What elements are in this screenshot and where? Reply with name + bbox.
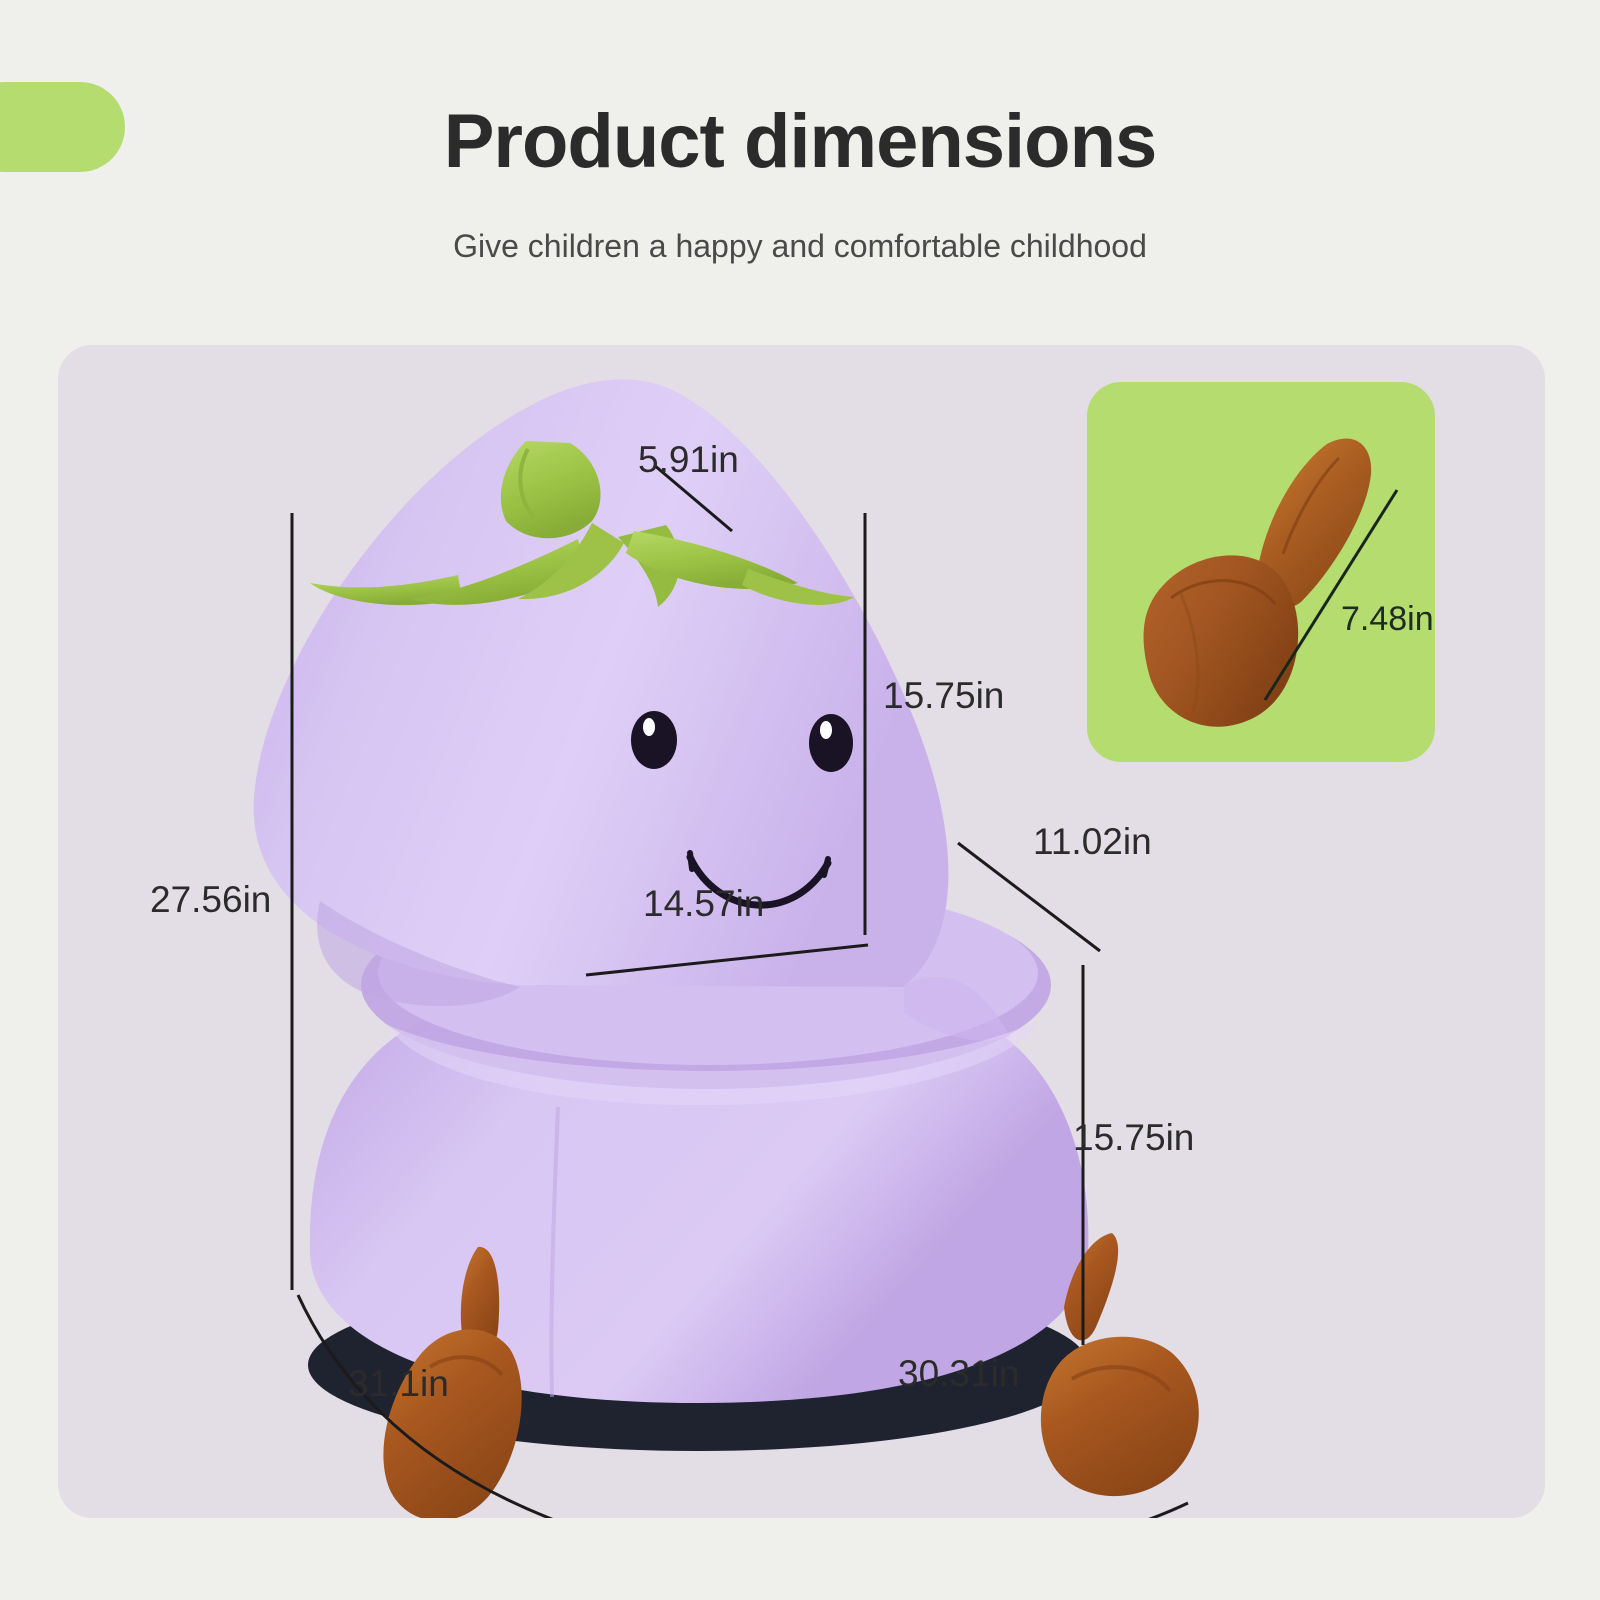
dimension-label-base-depth: 31.1in <box>348 1363 449 1405</box>
dimension-label-total-height: 27.56in <box>150 879 271 921</box>
inset-measurement-label: 7.48in <box>1341 600 1434 639</box>
product-illustration-stage: 5.91in 15.75in 14.57in 11.02in 27.56in 1… <box>58 345 1545 1518</box>
backrest <box>254 379 949 987</box>
dimension-label-seat-height: 15.75in <box>1073 1117 1194 1159</box>
product-dimensions-panel: 5.91in 15.75in 14.57in 11.02in 27.56in 1… <box>58 345 1545 1518</box>
eye-right <box>809 714 853 772</box>
eye-right-highlight <box>820 721 832 739</box>
page-title: Product dimensions <box>0 98 1600 185</box>
dimension-label-seat-depth: 11.02in <box>1033 821 1152 863</box>
arrow-base-width <box>644 1503 1188 1518</box>
dimension-label-crown-width: 5.91in <box>638 439 739 481</box>
product-body-group <box>254 379 1199 1518</box>
page-subtitle: Give children a happy and comfortable ch… <box>0 228 1600 265</box>
dimension-label-base-width: 30.31in <box>898 1353 1019 1395</box>
detachable-foot-inset-card: 7.48in <box>1087 382 1435 762</box>
mouth-tip-right <box>824 859 828 875</box>
eye-left <box>631 711 677 769</box>
inset-diagram <box>1087 382 1435 762</box>
dimension-label-back-height: 15.75in <box>883 675 1004 717</box>
dimension-label-seat-width: 14.57in <box>643 883 764 925</box>
foot-right-pad <box>1041 1337 1199 1496</box>
mouth-tip-left <box>690 853 692 869</box>
eye-left-highlight <box>643 718 655 736</box>
